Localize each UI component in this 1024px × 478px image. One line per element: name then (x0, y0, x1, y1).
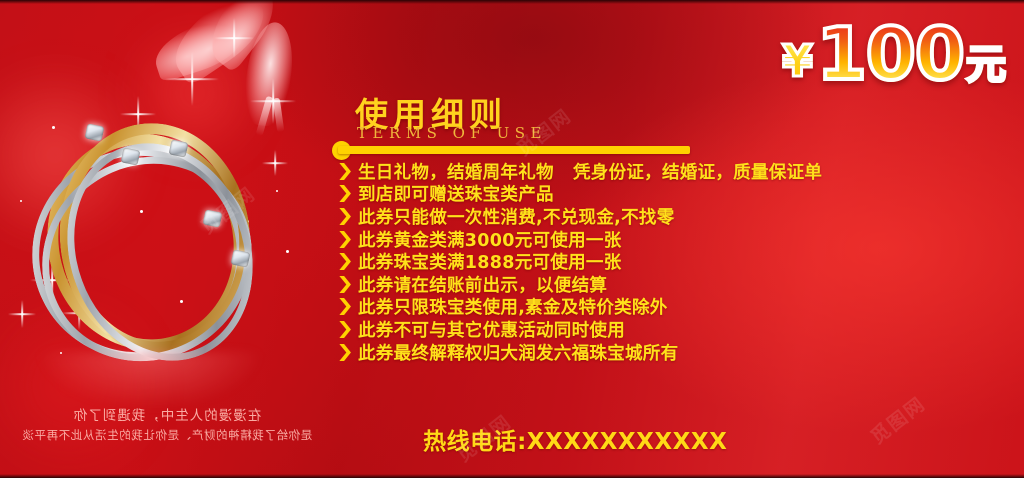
diamond-ring-image (18, 115, 283, 370)
price-badge: ¥ 100 元 (782, 18, 1006, 90)
contact-block: 热线电话:XXXXXXXXXXX 地址:XXXXXXXXXXXXXX (355, 396, 799, 478)
chevron-right-icon: ❯ (329, 344, 362, 361)
diamond-icon (203, 209, 223, 227)
chevron-right-icon: ❯ (329, 208, 362, 225)
sparkle-dot (286, 250, 289, 253)
term-text: 此券最终解释权归大润发六福珠宝城所有 (358, 340, 678, 365)
romantic-copy-mirrored: 在漫漫的人生中，我遇到了你 是你给了我精神的财产、是你让我的生活从此不再平淡 (12, 404, 322, 443)
title-underline (338, 146, 690, 154)
romantic-line-1: 在漫漫的人生中，我遇到了你 (12, 404, 322, 424)
term-text: 到店即可赠送珠宝类产品 (358, 181, 554, 206)
chevron-right-icon: ❯ (329, 321, 362, 338)
currency-symbol: ¥ (782, 40, 813, 84)
term-item: ❯此券最终解释权归大润发六福珠宝城所有 (332, 341, 1024, 364)
chevron-right-icon: ❯ (329, 276, 362, 293)
page-subtitle: TERMS OF USE (357, 124, 547, 142)
chevron-right-icon: ❯ (329, 253, 362, 270)
diamond-icon (169, 139, 189, 157)
term-text: 生日礼物，结婚周年礼物 凭身份证，结婚证，质量保证单 (358, 159, 822, 184)
chevron-right-icon: ❯ (329, 185, 362, 202)
term-text: 此券珠宝类满1888元可使用一张 (358, 249, 622, 274)
term-text: 此券黄金类满3000元可使用一张 (358, 227, 622, 252)
chevron-right-icon: ❯ (329, 298, 362, 315)
term-text: 此券请在结账前出示，以便结算 (358, 272, 607, 297)
ring-reflection (40, 352, 260, 408)
diamond-icon (231, 249, 251, 267)
price-unit: 元 (966, 45, 1006, 85)
term-item: ❯此券不可与其它优惠活动同时使用 (332, 318, 1024, 341)
top-edge (0, 0, 1024, 4)
term-item: ❯此券黄金类满3000元可使用一张 (332, 228, 1024, 251)
diamond-icon (85, 123, 105, 141)
sparkle-star-icon (214, 18, 254, 58)
term-text: 此券只限珠宝类使用,素金及特价类除外 (358, 294, 668, 319)
term-item: ❯到店即可赠送珠宝类产品 (332, 183, 1024, 206)
romantic-line-2: 是你给了我精神的财产、是你让我的生活从此不再平淡 (12, 427, 322, 443)
terms-list: ❯生日礼物，结婚周年礼物 凭身份证，结婚证，质量保证单❯到店即可赠送珠宝类产品❯… (332, 160, 1024, 363)
term-item: ❯此券只能做一次性消费,不兑现金,不找零 (332, 205, 1024, 228)
hotline-value: XXXXXXXXXXX (527, 429, 728, 455)
price-amount: 100 (817, 18, 964, 90)
term-item: ❯此券珠宝类满1888元可使用一张 (332, 250, 1024, 273)
term-item: ❯此券请在结账前出示，以便结算 (332, 273, 1024, 296)
term-text: 此券只能做一次性消费,不兑现金,不找零 (358, 204, 675, 229)
chevron-right-icon: ❯ (329, 231, 362, 248)
bottom-edge (0, 474, 1024, 478)
term-item: ❯生日礼物，结婚周年礼物 凭身份证，结婚证，质量保证单 (332, 160, 1024, 183)
term-item: ❯此券只限珠宝类使用,素金及特价类除外 (332, 296, 1024, 319)
term-text: 此券不可与其它优惠活动同时使用 (358, 317, 625, 342)
hotline-row: 热线电话:XXXXXXXXXXX (355, 396, 799, 478)
coupon-poster: ¥ 100 元 使用细则 TERMS OF USE ❯生日礼物，结婚周年礼物 凭… (0, 0, 1024, 478)
hotline-label: 热线电话: (423, 429, 527, 455)
chevron-right-icon: ❯ (329, 163, 362, 180)
sparkle-star-icon (165, 52, 219, 106)
diamond-icon (121, 147, 141, 165)
